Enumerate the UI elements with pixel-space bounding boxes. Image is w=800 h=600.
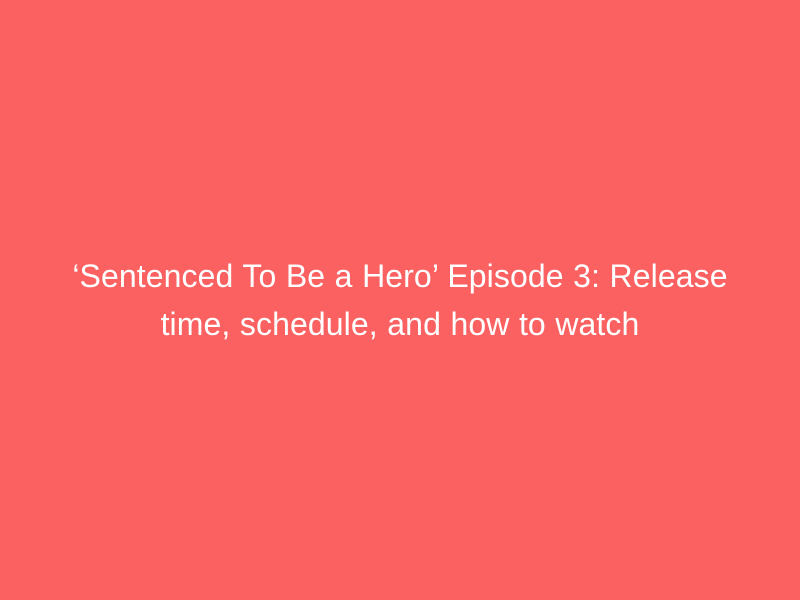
headline-block: ‘Sentenced To Be a Hero’ Episode 3: Rele… bbox=[50, 252, 750, 348]
article-headline-card: ‘Sentenced To Be a Hero’ Episode 3: Rele… bbox=[0, 0, 800, 600]
page-title: ‘Sentenced To Be a Hero’ Episode 3: Rele… bbox=[60, 252, 740, 348]
